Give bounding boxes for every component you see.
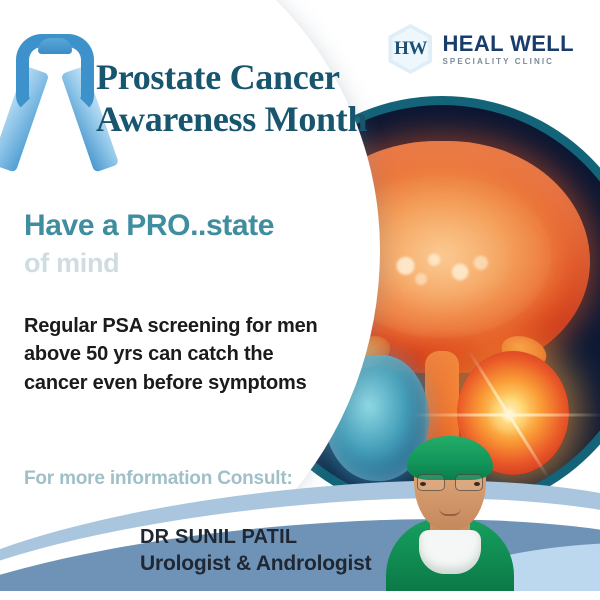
glasses-icon bbox=[417, 475, 483, 490]
surgical-mask-icon bbox=[419, 530, 481, 574]
awareness-ribbon-icon bbox=[18, 32, 92, 174]
doctor-role: Urologist & Andrologist bbox=[140, 552, 371, 576]
doctor-name: DR SUNIL PATIL bbox=[140, 526, 297, 549]
bladder-texture bbox=[377, 245, 507, 296]
tagline-main: Have a PRO..state bbox=[24, 208, 364, 244]
tumour-glow-flare-icon bbox=[487, 393, 531, 437]
tagline: Have a PRO..state of mind bbox=[24, 208, 364, 279]
consult-label: For more information Consult: bbox=[24, 468, 293, 490]
tagline-sub: of mind bbox=[24, 248, 364, 279]
logo-subtitle: SPECIALITY CLINIC bbox=[442, 58, 574, 66]
doctor-eye-left bbox=[420, 482, 426, 486]
ribbon-loop-highlight bbox=[38, 38, 72, 54]
headline-line-2: Awareness Month bbox=[96, 98, 426, 140]
doctor-eye-right bbox=[474, 482, 480, 486]
footer-strip bbox=[0, 591, 600, 600]
page-title: Prostate Cancer Awareness Month bbox=[96, 56, 426, 140]
doctor-photo bbox=[386, 446, 514, 596]
headline-line-1: Prostate Cancer bbox=[96, 56, 426, 98]
logo-name: HEAL WELL bbox=[442, 33, 574, 55]
body-copy: Regular PSA screening for men above 50 y… bbox=[24, 312, 340, 397]
logo-wordmark: HEAL WELL SPECIALITY CLINIC bbox=[442, 33, 574, 66]
prostate-awareness-poster: HW HEAL WELL SPECIALITY CLINIC Prostate … bbox=[0, 0, 600, 600]
